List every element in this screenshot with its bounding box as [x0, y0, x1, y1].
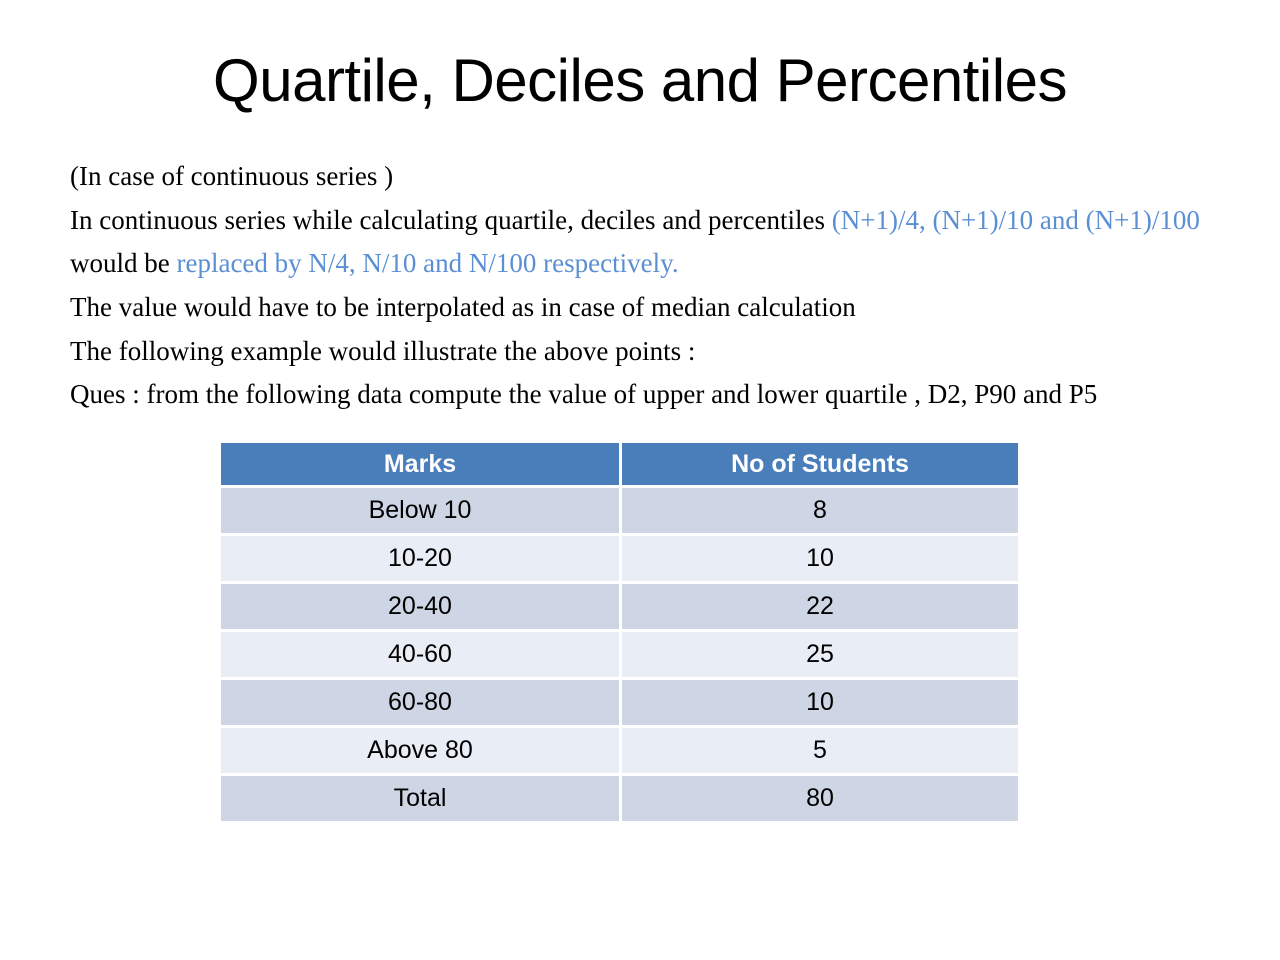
cell-marks: 20-40 — [221, 584, 619, 629]
text-run-blue-replacement: replaced by N/4, N/10 and N/100 respecti… — [176, 248, 678, 278]
column-header-students: No of Students — [622, 443, 1018, 485]
table-row-total: Total 80 — [221, 776, 1018, 821]
table-row: Above 80 5 — [221, 728, 1018, 773]
cell-count: 25 — [622, 632, 1018, 677]
table-row: Below 10 8 — [221, 488, 1018, 533]
text-run: The following example would illustrate t… — [70, 336, 695, 366]
text-run: (In case of continuous series ) — [70, 161, 393, 191]
column-header-marks: Marks — [221, 443, 619, 485]
slide-body: (In case of continuous series ) In conti… — [70, 155, 1230, 416]
table-row: 10-20 10 — [221, 536, 1018, 581]
cell-count: 8 — [622, 488, 1018, 533]
cell-count: 10 — [622, 680, 1018, 725]
text-run-blue-formulas: (N+1)/4, (N+1)/10 and (N+1)/100 — [832, 205, 1200, 235]
page-title: Quartile, Deciles and Percentiles — [0, 46, 1280, 116]
cell-marks: 60-80 — [221, 680, 619, 725]
paragraph-continuous-series-note: (In case of continuous series ) — [70, 155, 1230, 199]
table-header-row: Marks No of Students — [221, 443, 1018, 485]
cell-count: 22 — [622, 584, 1018, 629]
paragraph-question: Ques : from the following data compute t… — [70, 374, 1230, 416]
paragraph-interpolation-note: The value would have to be interpolated … — [70, 286, 1230, 330]
text-run: Ques : from the following data compute t… — [70, 379, 1097, 409]
paragraph-example-intro: The following example would illustrate t… — [70, 330, 1230, 374]
text-run-black-wouldbe: would be — [70, 248, 176, 278]
table-row: 60-80 10 — [221, 680, 1018, 725]
cell-marks: 40-60 — [221, 632, 619, 677]
paragraph-replacement-rule: In continuous series while calculating q… — [70, 199, 1230, 286]
text-run-black: In continuous series while calculating q… — [70, 205, 832, 235]
cell-count: 10 — [622, 536, 1018, 581]
cell-marks: 10-20 — [221, 536, 619, 581]
cell-count-total: 80 — [622, 776, 1018, 821]
cell-marks-total-label: Total — [221, 776, 619, 821]
table-row: 40-60 25 — [221, 632, 1018, 677]
cell-marks: Below 10 — [221, 488, 619, 533]
text-run: The value would have to be interpolated … — [70, 292, 856, 322]
cell-marks: Above 80 — [221, 728, 619, 773]
cell-count: 5 — [622, 728, 1018, 773]
marks-distribution-table: Marks No of Students Below 10 8 10-20 10… — [218, 440, 1021, 824]
table-row: 20-40 22 — [221, 584, 1018, 629]
